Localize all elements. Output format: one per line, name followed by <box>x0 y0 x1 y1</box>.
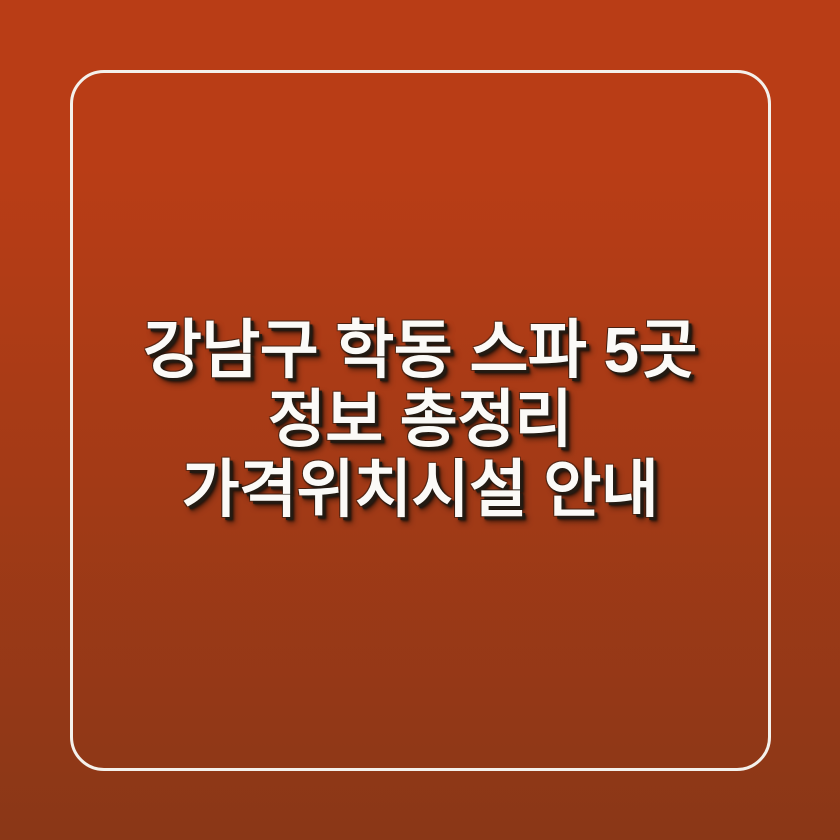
title-line-2: 정보 총정리 <box>86 385 754 455</box>
title-line-3: 가격위치시설 안내 <box>86 455 754 525</box>
title-block: 강남구 학동 스파 5곳 정보 총정리 가격위치시설 안내 <box>0 0 840 840</box>
title-line-1: 강남구 학동 스파 5곳 <box>86 315 754 385</box>
thumbnail-card: 강남구 학동 스파 5곳 정보 총정리 가격위치시설 안내 <box>0 0 840 840</box>
